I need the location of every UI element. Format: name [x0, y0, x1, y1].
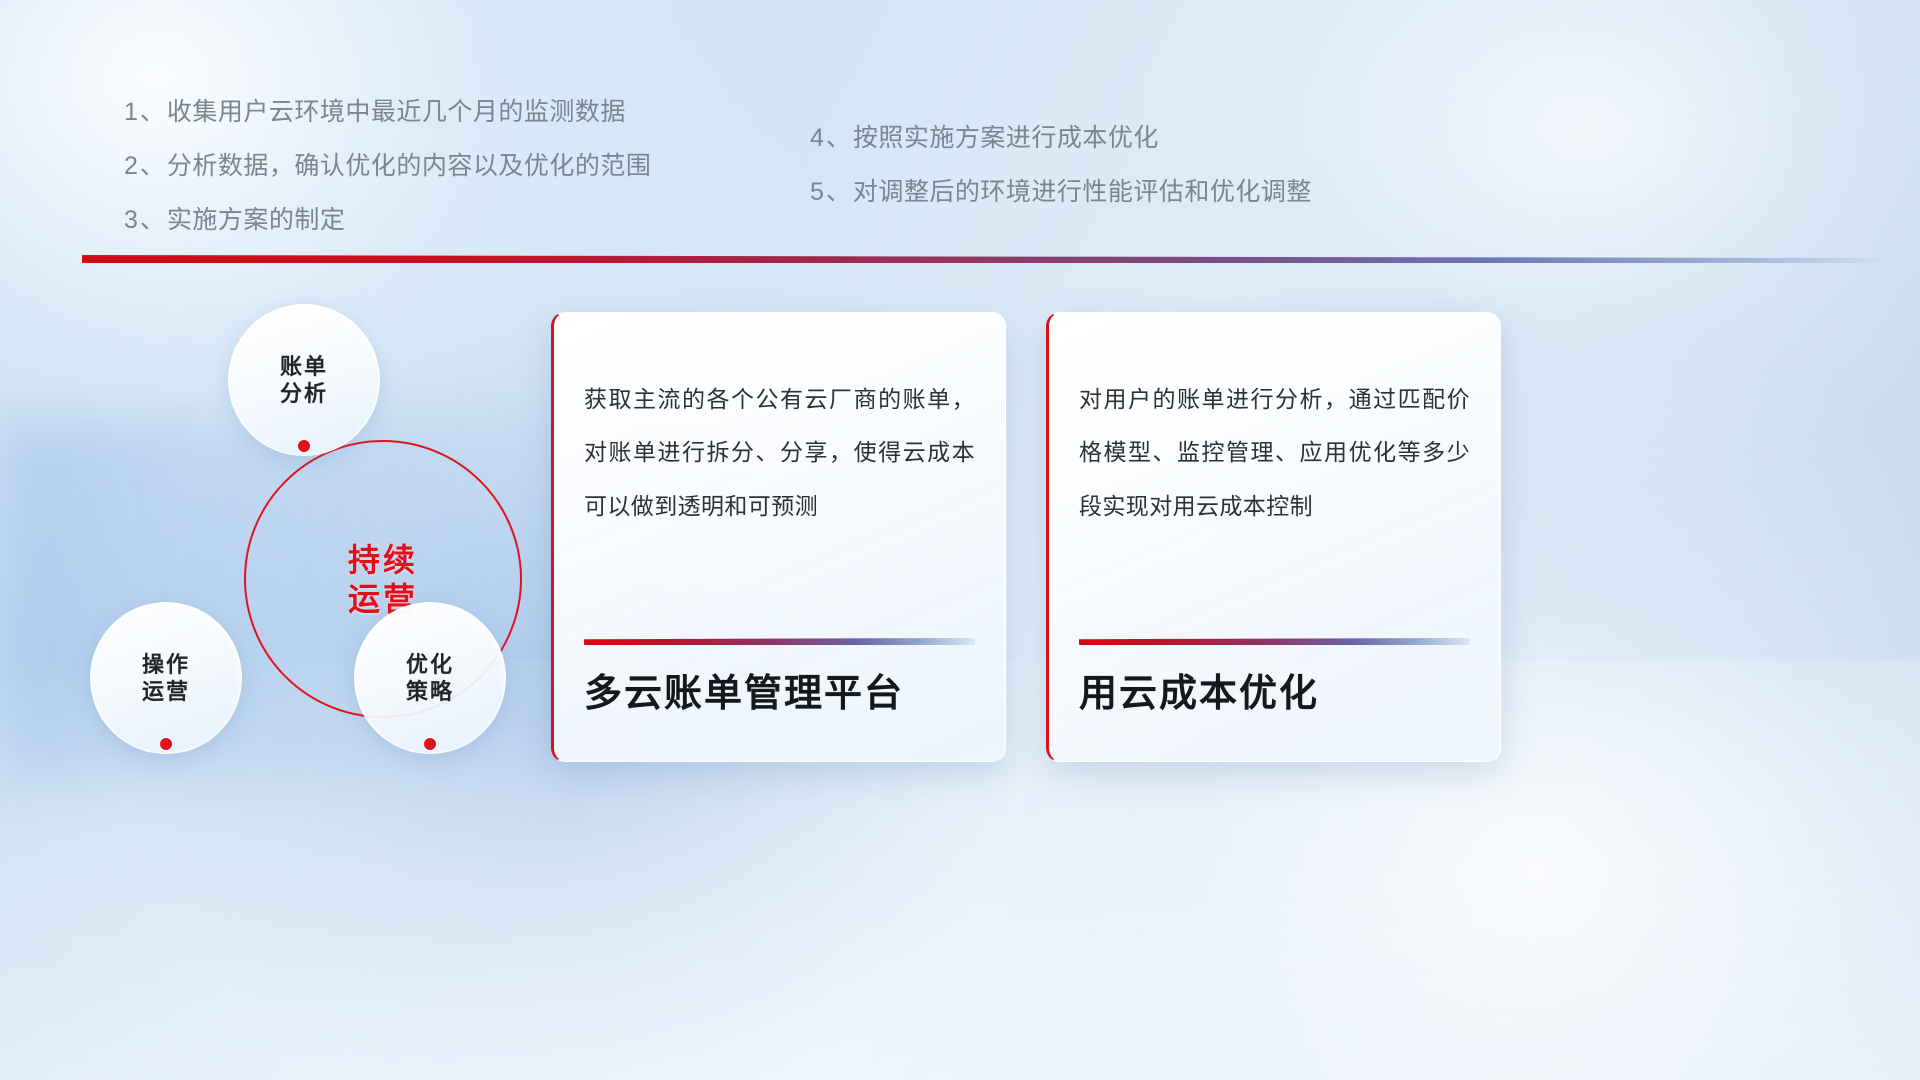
diagram-bubble-optimization-strategy[interactable]: 优化 策略 — [354, 602, 506, 754]
center-label-line-1: 持续 — [348, 544, 418, 576]
steps-list-right: 4、按照实施方案进行成本优化 5、对调整后的环境进行性能评估和优化调整 — [810, 126, 1312, 234]
list-item-label: 实施方案的制定 — [167, 206, 346, 234]
list-item: 1、收集用户云环境中最近几个月的监测数据 — [124, 100, 651, 125]
list-item: 2、分析数据，确认优化的内容以及优化的范围 — [124, 154, 651, 179]
bubble-label-line-2: 分析 — [280, 383, 328, 405]
card-divider — [1079, 638, 1470, 645]
list-item: 4、按照实施方案进行成本优化 — [810, 126, 1312, 151]
bubble-label-line-1: 操作 — [142, 654, 190, 676]
list-item-label: 对调整后的环境进行性能评估和优化调整 — [853, 178, 1312, 206]
feature-card-multicloud-billing[interactable]: 获取主流的各个公有云厂商的账单，对账单进行拆分、分享，使得云成本可以做到透明和可… — [551, 312, 1006, 762]
feature-card-cloud-cost-optimization[interactable]: 对用户的账单进行分析，通过匹配价格模型、监控管理、应用优化等多少段实现对用云成本… — [1046, 312, 1501, 762]
list-item-label: 分析数据，确认优化的内容以及优化的范围 — [167, 152, 652, 180]
list-item-number: 4、 — [810, 124, 853, 152]
card-title: 多云账单管理平台 — [584, 675, 975, 713]
card-title: 用云成本优化 — [1079, 675, 1470, 713]
list-item-number: 1、 — [124, 98, 167, 126]
bubble-label-line-1: 账单 — [280, 356, 328, 378]
list-item: 3、实施方案的制定 — [124, 208, 651, 233]
steps-list-left: 1、收集用户云环境中最近几个月的监测数据 2、分析数据，确认优化的内容以及优化的… — [124, 100, 651, 262]
card-body-text: 获取主流的各个公有云厂商的账单，对账单进行拆分、分享，使得云成本可以做到透明和可… — [584, 373, 975, 533]
diagram-bubble-billing-analysis[interactable]: 账单 分析 — [228, 304, 380, 456]
list-item-number: 2、 — [124, 152, 167, 180]
connector-dot-top-icon — [298, 440, 310, 452]
list-item: 5、对调整后的环境进行性能评估和优化调整 — [810, 180, 1312, 205]
list-item-number: 3、 — [124, 206, 167, 234]
card-body-text: 对用户的账单进行分析，通过匹配价格模型、监控管理、应用优化等多少段实现对用云成本… — [1079, 373, 1470, 533]
bubble-label-line-1: 优化 — [406, 654, 454, 676]
bubble-label-line-2: 策略 — [406, 681, 454, 703]
list-item-label: 收集用户云环境中最近几个月的监测数据 — [167, 98, 626, 126]
list-item-number: 5、 — [810, 178, 853, 206]
diagram-bubble-operations[interactable]: 操作 运营 — [90, 602, 242, 754]
connector-dot-right-icon — [424, 738, 436, 750]
bubble-label-line-2: 运营 — [142, 681, 190, 703]
card-divider — [584, 638, 975, 645]
continuous-operations-diagram: 持续 运营 账单 分析 操作 运营 优化 策略 — [82, 290, 552, 770]
connector-dot-left-icon — [160, 738, 172, 750]
list-item-label: 按照实施方案进行成本优化 — [853, 124, 1159, 152]
